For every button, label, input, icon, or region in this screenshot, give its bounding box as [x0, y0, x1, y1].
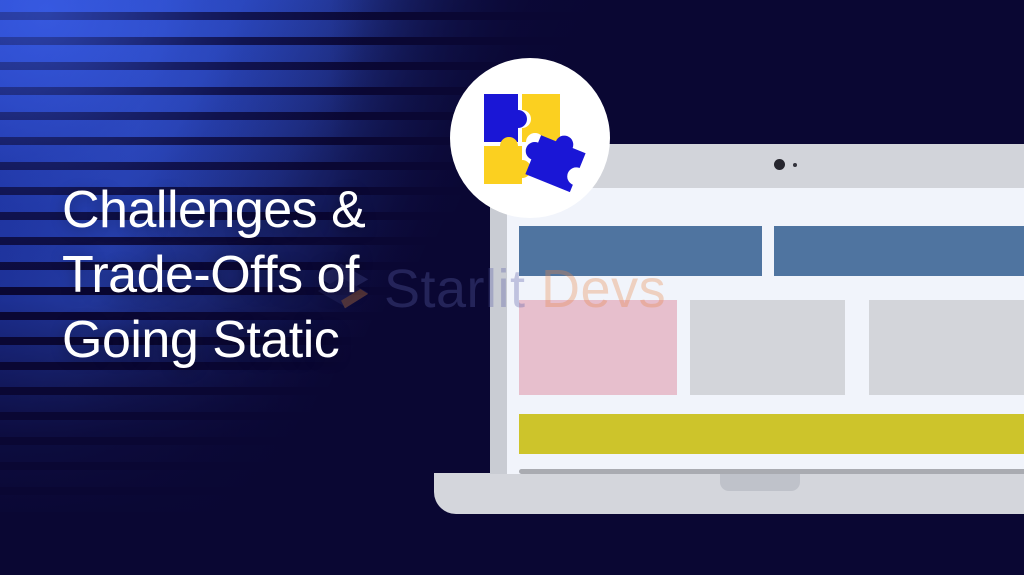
- trackpad-notch: [720, 473, 800, 491]
- blog-header-banner: Starlit Devs Challenges & Trade-Offs of …: [0, 0, 1024, 575]
- background-stripe: [0, 495, 246, 512]
- background-stripe: [0, 445, 282, 462]
- camera-indicator-dot: [793, 163, 797, 167]
- laptop-screen: [507, 188, 1024, 474]
- camera-lens-dot: [774, 159, 785, 170]
- background-stripe: [0, 20, 588, 37]
- wireframe-card-grey-2: [869, 300, 1024, 395]
- background-stripe: [0, 120, 516, 137]
- wireframe-header-bar-right: [774, 226, 1024, 276]
- wireframe-card-grey-1: [690, 300, 845, 395]
- background-stripe: [0, 420, 300, 437]
- wireframe-card-pink: [519, 300, 677, 395]
- background-stripe: [0, 145, 498, 162]
- background-stripe: [0, 0, 606, 12]
- wireframe-header-bar-left: [519, 226, 762, 276]
- background-stripe: [0, 470, 264, 487]
- puzzle-pieces-icon: [450, 58, 610, 218]
- headline: Challenges & Trade-Offs of Going Static: [62, 178, 462, 373]
- wireframe-divider-line: [519, 469, 1024, 474]
- badge-circle: [450, 58, 610, 218]
- background-stripe: [0, 395, 318, 412]
- wireframe-footer-bar: [519, 414, 1024, 454]
